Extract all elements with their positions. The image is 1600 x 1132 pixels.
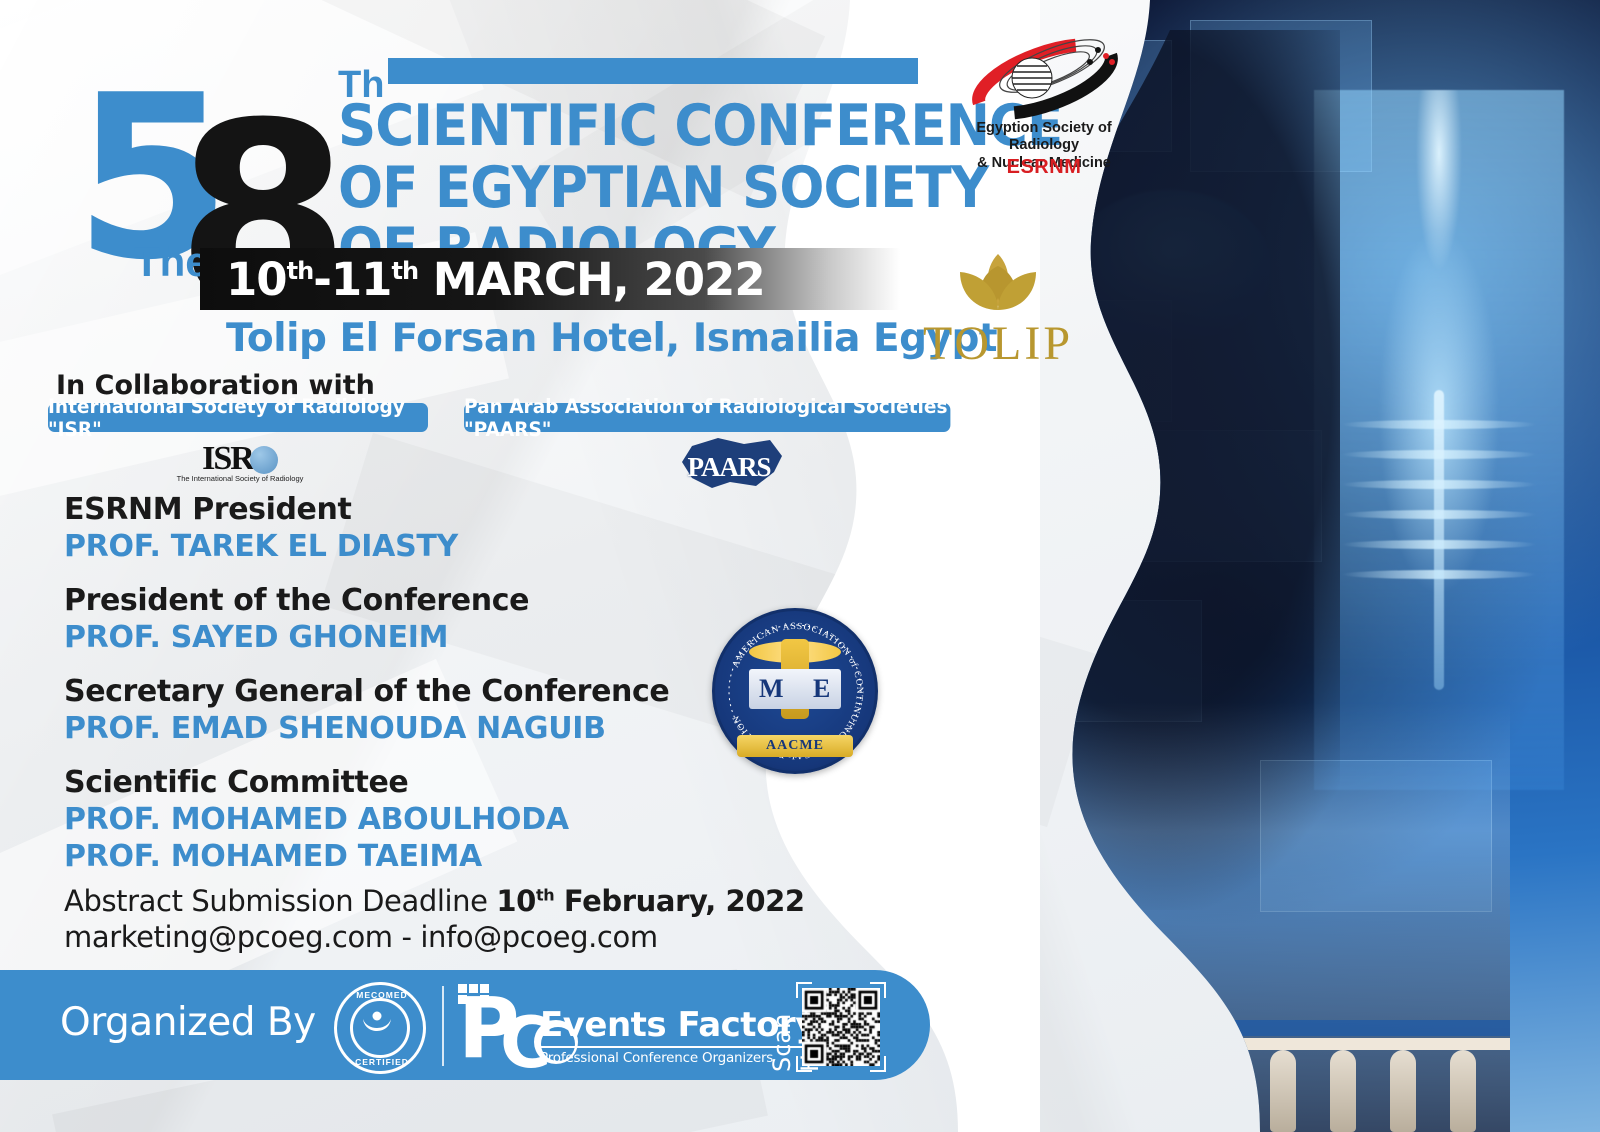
organized-by-label: Organized By (60, 1000, 316, 1045)
paars-logo: PAARS (664, 438, 794, 492)
tolip-logo: TOLIP (898, 252, 1098, 372)
date-dash: - (313, 253, 331, 306)
aacme-seal: AMERICAN ASSOCIATION of CONTINUING MEDIC… (712, 608, 878, 774)
deadline-day-suffix: th (536, 885, 554, 904)
official-role: Secretary General of the Conference (64, 674, 724, 709)
officials-list: ESRNM President PROF. TAREK EL DIASTY Pr… (64, 492, 724, 893)
deadline-day: 10 (496, 884, 536, 918)
official-name: PROF. EMAD SHENOUDA NAGUIB (64, 711, 724, 746)
official-role: ESRNM President (64, 492, 724, 527)
isr-wordmark: ISR (172, 440, 308, 478)
aacme-letter-m: M (759, 674, 784, 704)
date-day-1: 10 (226, 253, 287, 306)
deadline-month-year: February, 2022 (554, 884, 804, 918)
skeleton-xray (1314, 90, 1564, 790)
collaboration-chip-isr[interactable]: International Society of Radiology "ISR" (48, 403, 428, 432)
esrnm-orbit-icon (960, 34, 1130, 120)
esrnm-acronym: ESRNM (944, 156, 1144, 179)
official-name: PROF. SAYED GHONEIM (64, 620, 724, 655)
mecomed-certified-badge: MECOMED CERTIFIED (334, 982, 426, 1074)
official-role: Scientific Committee (64, 765, 724, 800)
official-group: ESRNM President PROF. TAREK EL DIASTY (64, 492, 724, 564)
date-day-2-suffix: th (392, 257, 419, 285)
person-icon (361, 1011, 393, 1041)
official-role: President of the Conference (64, 583, 724, 618)
official-group: Secretary General of the Conference PROF… (64, 674, 724, 746)
qr-code[interactable] (796, 982, 886, 1072)
email-marketing[interactable]: marketing@pcoeg.com (64, 920, 393, 954)
tolip-flower-icon (898, 252, 1098, 318)
deadline-prefix: Abstract Submission Deadline (64, 884, 496, 918)
mecomed-bottom-text: CERTIFIED (339, 1057, 425, 1067)
date-day-2: 11 (331, 253, 392, 306)
collaboration-chip-paars[interactable]: Pan Arab Association of Radiological Soc… (464, 403, 950, 432)
official-name: PROF. TAREK EL DIASTY (64, 529, 724, 564)
footer-divider (442, 986, 444, 1066)
esrnm-logo: Egyption Society of Radiology & Nuclear … (944, 28, 1144, 178)
title-rule (388, 58, 918, 84)
qr-bitmap (802, 988, 880, 1066)
venue-text: Tolip El Forsan Hotel, Ismailia Egypt (226, 316, 997, 361)
email-separator: - (393, 920, 421, 954)
contact-emails: marketing@pcoeg.com - info@pcoeg.com (64, 920, 658, 954)
official-group: President of the Conference PROF. SAYED … (64, 583, 724, 655)
official-name: PROF. MOHAMED ABOULHODA (64, 802, 724, 837)
esrnm-line-1: Egyption Society of Radiology (976, 120, 1111, 153)
email-info[interactable]: info@pcoeg.com (420, 920, 657, 954)
date-day-1-suffix: th (287, 257, 314, 285)
the-word: The (134, 238, 209, 286)
isr-subtitle: The International Society of Radiology (172, 474, 308, 483)
paars-wordmark: PAARS (664, 452, 794, 483)
conference-poster: 5 8 Th The SCIENTIFIC CONFERENCE OF EGYP… (0, 0, 1600, 1132)
aacme-letter-e: E (813, 674, 830, 704)
official-group: Scientific Committee PROF. MOHAMED ABOUL… (64, 765, 724, 874)
conference-dates: 10th-11th MARCH, 2022 (226, 253, 765, 306)
abstract-deadline: Abstract Submission Deadline 10th Februa… (64, 884, 805, 918)
mecomed-top-text: MECOMED (339, 990, 425, 1000)
globe-icon (250, 446, 278, 474)
tolip-wordmark: TOLIP (898, 316, 1098, 371)
isr-logo: ISR The International Society of Radiolo… (172, 440, 308, 492)
date-month-year: MARCH, 2022 (433, 253, 765, 306)
official-name: PROF. MOHAMED TAEIMA (64, 839, 724, 874)
aacme-ribbon: AACME (737, 735, 853, 757)
